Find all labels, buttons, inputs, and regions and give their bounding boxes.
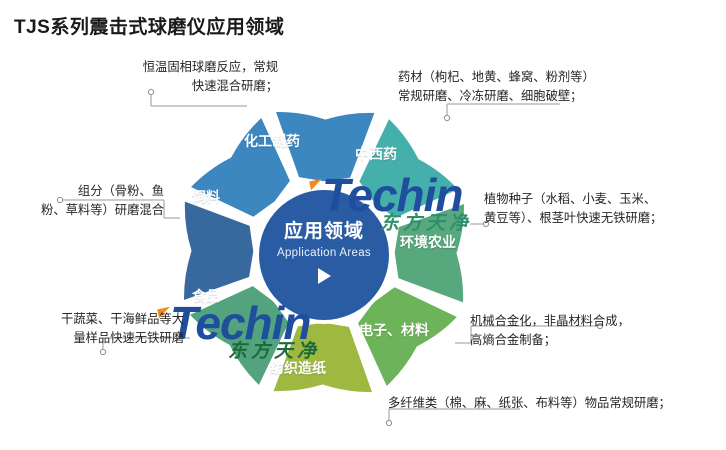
note-textile-paper: 多纤维类（棉、麻、纸张、布料等）物品常规研磨； [388, 394, 708, 413]
wheel-segment-tcm-western-medicine[interactable] [358, 117, 461, 220]
leader-dot-food [100, 349, 105, 354]
wheel-label-chemical-pharma[interactable]: 化工制药 [244, 131, 300, 151]
wheel-label-textile-paper[interactable]: 纺织造纸 [270, 358, 326, 378]
note-electronics-materials-line-1: 机械合金化，非晶材料合成， [470, 312, 700, 331]
hub-title-cn: 应用领域 [284, 216, 364, 243]
note-electronics-materials-line-2: 高熵合金制备； [470, 331, 700, 350]
note-textile-paper-line-1: 多纤维类（棉、麻、纸张、布料等）物品常规研磨； [388, 394, 708, 413]
wheel-label-food[interactable]: 食品 [192, 286, 220, 306]
note-chemical-pharma-line-1: 恒温固相球磨反应，常规 [88, 58, 278, 77]
wheel-label-tcm-western-medicine[interactable]: 中西药 [355, 144, 397, 164]
hub-title-en: Application Areas [277, 247, 371, 259]
note-food-line-1: 干蔬菜、干海鲜品等大 [16, 310, 184, 329]
infographic-root: TJS系列震击式球磨仪应用领域 [0, 0, 726, 450]
note-tcm-western-medicine: 药材（枸杞、地黄、蜂窝、粉剂等）常规研磨、冷冻研磨、细胞破壁； [398, 68, 658, 106]
center-hub[interactable]: 应用领域 Application Areas [259, 190, 389, 320]
note-tcm-western-medicine-line-1: 药材（枸杞、地黄、蜂窝、粉剂等） [398, 68, 658, 87]
play-triangle-icon[interactable] [318, 268, 331, 284]
note-feed-line-1: 组分（骨粉、鱼 [14, 182, 164, 201]
wheel-label-electronics-materials[interactable]: 电子、材料 [359, 320, 429, 340]
note-electronics-materials: 机械合金化，非晶材料合成，高熵合金制备； [470, 312, 700, 350]
note-feed: 组分（骨粉、鱼粉、草料等）研磨混合 [14, 182, 164, 220]
note-tcm-western-medicine-line-2: 常规研磨、冷冻研磨、细胞破壁； [398, 87, 658, 106]
note-feed-line-2: 粉、草料等）研磨混合 [14, 201, 164, 220]
wheel-label-environment-agriculture[interactable]: 环境农业 [400, 232, 456, 252]
wheel-label-feed[interactable]: 饲料 [192, 187, 220, 207]
note-environment-agriculture: 植物种子（水稻、小麦、玉米、黄豆等）、根茎叶快速无铁研磨； [484, 190, 724, 228]
note-environment-agriculture-line-2: 黄豆等）、根茎叶快速无铁研磨； [484, 209, 724, 228]
note-chemical-pharma: 恒温固相球磨反应，常规快速混合研磨； [88, 58, 278, 96]
note-food: 干蔬菜、干海鲜品等大量样品快速无铁研磨 [16, 310, 184, 348]
note-environment-agriculture-line-1: 植物种子（水稻、小麦、玉米、 [484, 190, 724, 209]
note-food-line-2: 量样品快速无铁研磨 [16, 329, 184, 348]
note-chemical-pharma-line-2: 快速混合研磨； [88, 77, 278, 96]
leader-dot-textile [386, 420, 391, 425]
